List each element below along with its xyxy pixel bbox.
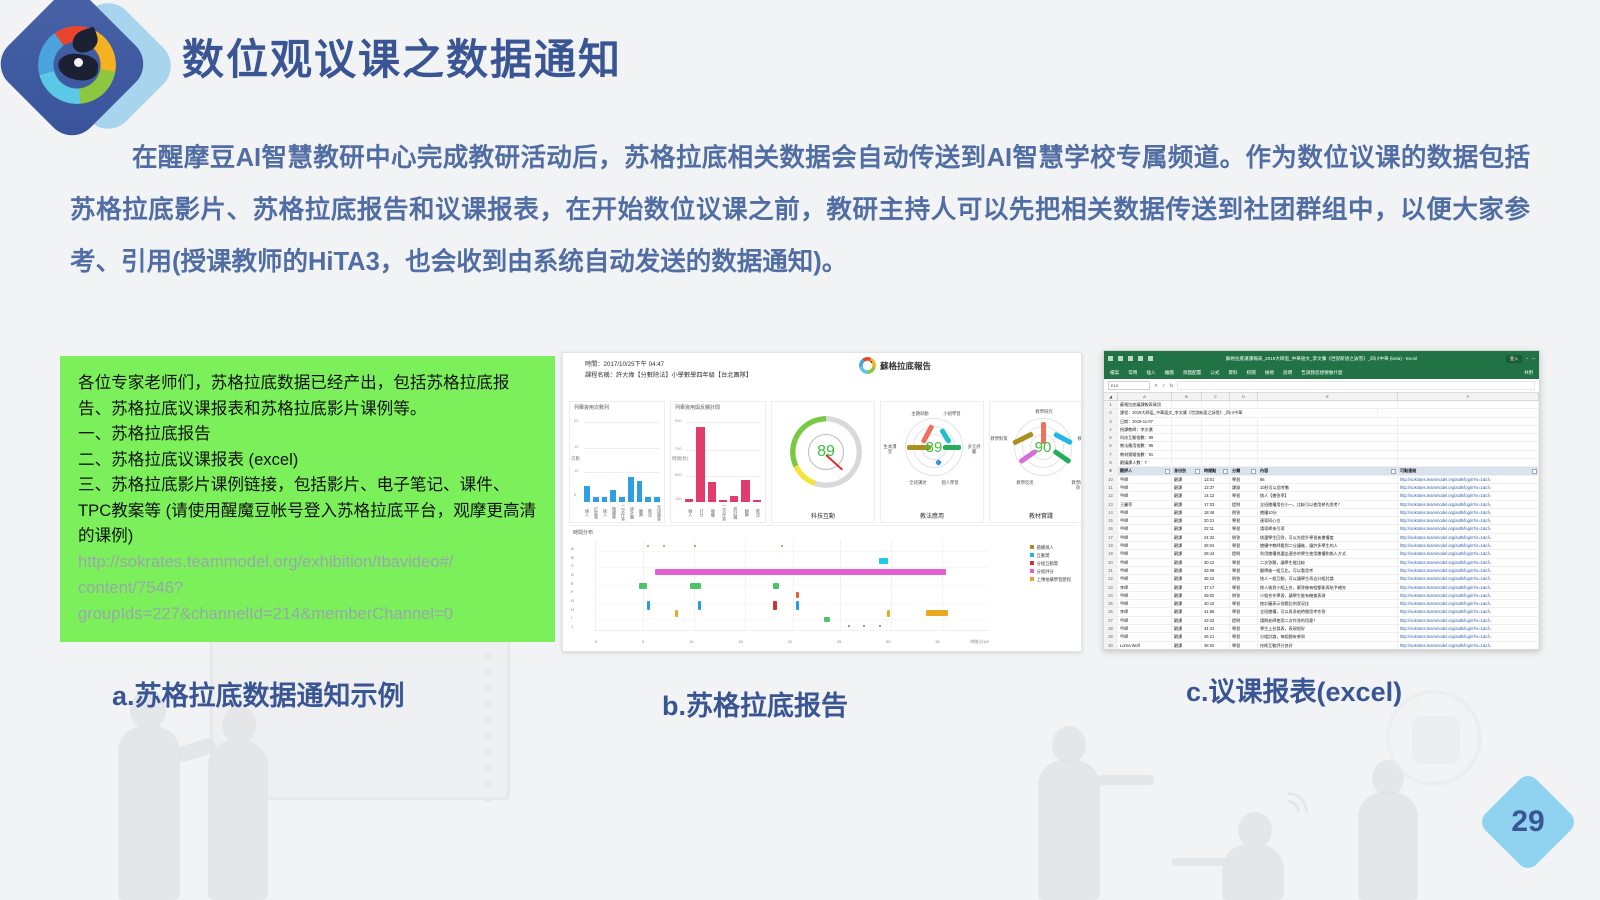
chart-bar-duration: 列舉資用與反饋計問 時間(秒) 900 700 500 100 xyxy=(670,401,766,523)
formula-icons[interactable]: ✕ ✓ fx xyxy=(1154,383,1173,389)
name-box[interactable]: E10 xyxy=(1108,381,1150,390)
insert-function-icon[interactable]: fx xyxy=(1170,383,1174,389)
chart-xticks: 個人 打分 搶權 二次作答 統計圖 翻牌 推送 xyxy=(685,505,761,521)
table-row[interactable]: 17甲師觀課24:32問答挑選學生回答，可以先提升學習者搶權度http://so… xyxy=(1104,534,1539,542)
table-row[interactable]: 13王麗萍觀課17:03提問全班搶權用在小一，比較可以使用參先思考？http:/… xyxy=(1104,501,1539,509)
table-row[interactable]: 20甲師觀課30:12學習二次答題，讓學生能比較http://sokrates.… xyxy=(1104,559,1539,567)
table-row[interactable]: 30Lorna Wolf觀課48:02學習技術互動評分良好http://sokr… xyxy=(1104,642,1539,650)
bar-group xyxy=(685,420,761,502)
table-header-row[interactable]: 9 觀評人 身份別 時間點 分類 內容 可點連結 xyxy=(1104,467,1539,475)
column-header-a[interactable]: A xyxy=(1118,393,1172,400)
table-row[interactable]: 8觀議課人數：7 xyxy=(1104,459,1539,467)
table-row[interactable]: 26李師觀課41:55學習全班搶權，可以再多給時間思考作答http://sokr… xyxy=(1104,608,1539,616)
column-header-e[interactable]: E xyxy=(1258,393,1398,400)
formula-bar-row: E10 ✕ ✓ fx xyxy=(1104,379,1539,393)
tell-me-search[interactable]: 告訴我您想要做什麼 xyxy=(1301,370,1342,376)
figure-row: 各位专家老师们，苏格拉底数据已经产出，包括苏格拉底报告、苏格拉底议课报表和苏格拉… xyxy=(0,350,1600,680)
chat-line-1: 一、苏格拉底报告 xyxy=(78,421,537,447)
chat-line-3: 三、苏格拉底影片课例链接，包括影片、电子笔记、课件、TPC教案等 (请使用醒魔豆… xyxy=(78,472,537,549)
chart-title: 科技互動 xyxy=(772,511,874,520)
minimize-icon[interactable]: – xyxy=(1532,356,1535,362)
timeline-ylabels: ABCDE FGHIJ xyxy=(571,546,593,629)
cancel-icon[interactable]: ✕ xyxy=(1154,383,1158,389)
chart-title: 列舉資用次數列 xyxy=(574,404,609,411)
table-row[interactable]: 6教法應用指數：85 xyxy=(1104,442,1539,450)
slide-root: 数位观议课之数据通知 在醒摩豆AI智慧教研中心完成教研活动后，苏格拉底相关数据会… xyxy=(0,0,1600,900)
sokrates-logo xyxy=(2,2,178,138)
ribbon-tab-formulas[interactable]: 公式 xyxy=(1210,370,1219,376)
radar-value: 90 xyxy=(1024,432,1062,462)
table-row[interactable]: 25甲師觀課40:10學習統計圖表示答題比例狀況佳http://sokrates… xyxy=(1104,600,1539,608)
timeline-xlabel: 時間(分) xyxy=(970,639,985,645)
report-header: 時間：2017/10/25下午 04:47 課程名稱：許大偉【分數除法】小學數學… xyxy=(563,353,1081,401)
chart-radar-pedagogy: 主題與動 小組學習 多元評量 個人學習 全班講述 生本課堂 89 教法應用 xyxy=(880,401,984,523)
chat-url-line-1[interactable]: content/7546? xyxy=(78,575,537,601)
table-row[interactable]: 22甲師觀課35:23問答挑人一組互動，可以讓學生再去分組討論http://so… xyxy=(1104,575,1539,583)
header-time: 時間點 xyxy=(1202,467,1230,474)
chart-title: 列舉資用與反饋計問 xyxy=(675,404,720,411)
table-row[interactable]: 29甲師觀課46:21學習分組討論，每組都有參與http://sokrates.… xyxy=(1104,633,1539,641)
ribbon-tab-file[interactable]: 檔案 xyxy=(1110,370,1119,376)
page-number-badge: 29 xyxy=(1477,771,1579,873)
caption-a: a.苏格拉底数据通知示例 xyxy=(112,674,405,713)
chat-line-0: 各位专家老师们，苏格拉底数据已经产出，包括苏格拉底报告、苏格拉底议课报表和苏格拉… xyxy=(78,370,537,421)
confirm-icon[interactable]: ✓ xyxy=(1162,383,1166,389)
chart-ylabel: 次數 xyxy=(571,456,580,462)
table-row[interactable]: 10甲師觀課13:01學習86http://sokrates.teammodel… xyxy=(1104,476,1539,484)
chat-message-bubble: 各位专家老师们，苏格拉底数据已经产出，包括苏格拉底报告、苏格拉底议课报表和苏格拉… xyxy=(60,356,555,642)
table-row[interactable]: 7教材實踐指數：91 xyxy=(1104,451,1539,459)
table-row[interactable]: 16甲師觀課22:11學習請導師來引導http://sokrates.teamm… xyxy=(1104,525,1539,533)
page-title: 数位观议课之数据通知 xyxy=(182,26,622,87)
table-row[interactable]: 27甲師觀課43:23提問請問老師使用二次作答的用意？http://sokrat… xyxy=(1104,617,1539,625)
account-badge[interactable]: 登入 xyxy=(1506,355,1522,363)
timeline-xticks: 0 5 10 15 20 25 30 35 40 xyxy=(595,639,989,644)
header-observer: 觀評人 xyxy=(1118,467,1172,474)
table-row[interactable]: 19甲師觀課28:44提問利用搶權挑選出適合的學生使用搶權和挑人方式http:/… xyxy=(1104,550,1539,558)
ribbon-tab-help[interactable]: 說明 xyxy=(1283,370,1292,376)
timeline-legend: 搶權挑人 互動獎 分組互動獎 分組評分 上傳拍攝學習歷程 xyxy=(1030,544,1071,584)
chart-xticks: 個人 打星號 挑人 搶權獎 二次作答 統計圖 翻牌 推送 全班搶答 xyxy=(584,505,660,521)
table-row[interactable]: 3日期：2019-11-07 xyxy=(1104,418,1539,426)
table-row[interactable]: 5科技互動指數：89 xyxy=(1104,434,1539,442)
body-paragraph: 在醒摩豆AI智慧教研中心完成教研活动后，苏格拉底相关数据会自动传送到AI智慧学校… xyxy=(70,132,1530,288)
chat-url-line-2[interactable]: groupIds=227&channelId=214&memberChannel… xyxy=(78,601,537,627)
table-row[interactable]: 2課程：2019大師盃_中華語文_李文傭《世說新語之詠雪》_四川中華 xyxy=(1104,409,1539,417)
report-brand: 蘇格拉底報告 xyxy=(859,357,931,374)
table-row[interactable]: 1蘇格拉底議課報表資訊 xyxy=(1104,401,1539,409)
caption-b: b.苏格拉底报告 xyxy=(662,684,848,723)
table-body[interactable]: 10甲師觀課13:01學習86http://sokrates.teammodel… xyxy=(1104,476,1539,650)
logo-owl-eye-icon xyxy=(74,58,83,67)
header-role: 身份別 xyxy=(1172,467,1202,474)
ribbon-tab-review[interactable]: 校閱 xyxy=(1247,370,1256,376)
report-chart-row: 列舉資用次數列 次數 20 15 10 5 xyxy=(563,401,1081,523)
ribbon-tab-insert[interactable]: 插入 xyxy=(1146,370,1155,376)
ribbon-tab-data[interactable]: 資料 xyxy=(1228,370,1237,376)
chart-timeline: 時間分布 ABCDE FGHIJ xyxy=(569,525,1075,647)
excel-window: 蘇格拉底議課報表_2019大師盃_中華語文_李文傭《世說新語之詠雪》_四川中華 … xyxy=(1103,350,1540,650)
page-number: 29 xyxy=(1492,786,1564,858)
column-header-c[interactable]: C xyxy=(1202,393,1230,400)
radar-value: 89 xyxy=(915,432,953,462)
ribbon-tab-layout[interactable]: 頁面配置 xyxy=(1183,370,1201,376)
column-header-d[interactable]: D xyxy=(1230,393,1258,400)
table-row[interactable]: 4授課教師：李文傭 xyxy=(1104,426,1539,434)
chart-title: 時間分布 xyxy=(573,529,593,536)
table-row[interactable]: 23李師觀課37:17學習挑人後到小組上台，解答後每組都能再給予補充http:/… xyxy=(1104,584,1539,592)
header-category: 分類 xyxy=(1230,467,1258,474)
chart-radar-material: 教學研究 教學互動 教學成效 教學反思 教學對策 90 教材實踐 xyxy=(989,401,1082,523)
table-row[interactable]: 14甲師觀課18:46問答搶權10分http://sokrates.teammo… xyxy=(1104,509,1539,517)
chart-gauge-tech: 89 科技互動 xyxy=(771,401,875,523)
report-logo-icon xyxy=(859,357,876,374)
window-controls[interactable]: 登入 ▫ – xyxy=(1506,355,1535,363)
report-time: 時間：2017/10/25下午 04:47 xyxy=(585,359,1073,370)
excel-ribbon-tabs[interactable]: 檔案 常用 插入 繪圖 頁面配置 公式 資料 校閱 檢視 說明 告訴我您想要做什… xyxy=(1104,366,1539,379)
ribbon-tab-home[interactable]: 常用 xyxy=(1128,370,1137,376)
sokrates-report-screenshot: 時間：2017/10/25下午 04:47 課程名稱：許大偉【分數除法】小學數學… xyxy=(562,352,1082,652)
ribbon-tab-view[interactable]: 檢視 xyxy=(1265,370,1274,376)
table-row[interactable]: 12甲師觀課14:12學習挑人【搶答率】http://sokrates.team… xyxy=(1104,492,1539,500)
bar-group xyxy=(584,420,660,502)
table-row[interactable]: 11甲師觀課13:37課錄10秒可以思考動http://sokrates.tea… xyxy=(1104,484,1539,492)
spreadsheet-grid[interactable]: ◢ A B C D E F 1蘇格拉底議課報表資訊 2課程：2019大師盃_中華… xyxy=(1104,393,1539,650)
column-headers[interactable]: ◢ A B C D E F xyxy=(1104,393,1539,401)
column-header-b[interactable]: B xyxy=(1172,393,1202,400)
share-button[interactable]: 共用 xyxy=(1524,370,1533,376)
table-row[interactable]: 15甲師觀課20:21學習連導同心位http://sokrates.teammo… xyxy=(1104,517,1539,525)
ribbon-tab-draw[interactable]: 繪圖 xyxy=(1165,370,1174,376)
header-link: 可點連結 xyxy=(1398,467,1539,474)
table-row[interactable]: 24甲師觀課39:02問答小組合作學習，讓學生能有機會表現http://sokr… xyxy=(1104,592,1539,600)
corner-select-all[interactable]: ◢ xyxy=(1104,393,1118,400)
excel-document-title: 蘇格拉底議課報表_2019大師盃_中華語文_李文傭《世說新語之詠雪》_四川中華 … xyxy=(1104,356,1539,362)
report-course: 課程名稱：許大偉【分數除法】小學數學四年級【台北團隊】 xyxy=(585,370,1073,381)
chat-line-2: 二、苏格拉底议课报表 (excel) xyxy=(78,447,537,473)
chart-title: 教法應用 xyxy=(881,511,983,520)
header-content: 內容 xyxy=(1258,467,1398,474)
chart-bar-usage: 列舉資用次數列 次數 20 15 10 5 xyxy=(569,401,665,523)
timeline-plot xyxy=(595,540,989,631)
table-row[interactable]: 28甲師觀課44:31學習學生上台發表，表現很好http://sokrates.… xyxy=(1104,625,1539,633)
chart-title: 教材實踐 xyxy=(990,511,1082,520)
formula-input[interactable] xyxy=(1177,381,1535,390)
report-brand-label: 蘇格拉底報告 xyxy=(880,360,931,372)
excel-title-bar: 蘇格拉底議課報表_2019大師盃_中華語文_李文傭《世說新語之詠雪》_四川中華 … xyxy=(1104,351,1539,366)
chat-url-line-0[interactable]: http://sokrates.teammodel.org/exhibition… xyxy=(78,549,537,575)
table-row[interactable]: 18甲師觀課26:04學習搶權中教師看到二分鐘後，讓許多學生的人http://s… xyxy=(1104,542,1539,550)
table-row[interactable]: 21甲師觀課33:09學習翻牌後一組互比，可以看思考http://sokrate… xyxy=(1104,567,1539,575)
caption-c: c.议课报表(excel) xyxy=(1186,670,1402,709)
column-header-f[interactable]: F xyxy=(1398,393,1539,400)
restore-icon[interactable]: ▫ xyxy=(1526,356,1528,362)
